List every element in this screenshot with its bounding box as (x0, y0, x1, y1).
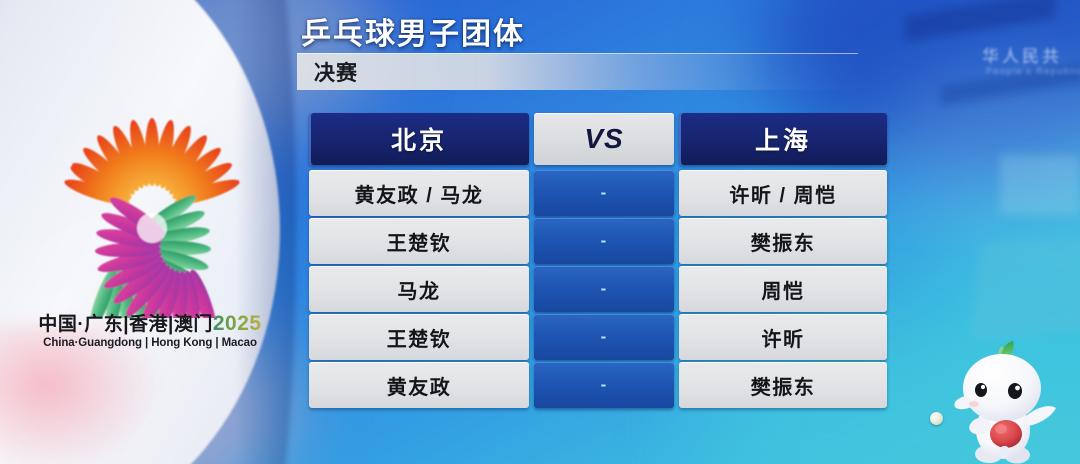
away-player: 许昕 (679, 314, 887, 360)
background-signage-subtext: People's Republic of C (986, 66, 1080, 76)
team-header-row: 北京 VS 上海 (309, 113, 887, 165)
vs-label: VS (534, 113, 674, 165)
event-title: 乒乓球男子团体 (301, 9, 525, 53)
background-signage-slab (905, 0, 1055, 42)
table-row: 黄友政 - 樊振东 (309, 362, 887, 408)
emblem-caption-cn: 中国·广东|香港|澳门2025 (34, 313, 266, 335)
match-score: - (534, 218, 674, 264)
match-grid: 北京 VS 上海 黄友政 / 马龙 - 许昕 / 周恺 王楚钦 - 樊振东 马龙… (309, 113, 887, 410)
home-player: 马龙 (309, 266, 529, 312)
away-team-name: 上海 (679, 113, 887, 165)
home-player: 黄友政 (309, 362, 529, 408)
away-player: 周恺 (679, 266, 887, 312)
away-player: 樊振东 (679, 218, 887, 264)
match-score: - (534, 266, 674, 312)
mascot-eye (1008, 383, 1022, 399)
round-label: 决赛 (314, 57, 358, 87)
emblem-caption: 中国·广东|香港|澳门2025 China·Guangdong | Hong K… (34, 313, 266, 349)
round-bar: 决赛 (297, 53, 858, 90)
background-blur-blob (880, 60, 1080, 250)
emblem-caption-en: China·Guangdong | Hong Kong | Macao (34, 337, 266, 349)
home-player: 黄友政 / 马龙 (309, 170, 529, 216)
mascot-figure (944, 338, 1066, 464)
match-score: - (534, 170, 674, 216)
background-signage-text: 华人民共 (982, 42, 1062, 67)
background-signage-slab (969, 236, 1080, 339)
games-emblem: 中国·广东|香港|澳门2025 China·Guangdong | Hong K… (34, 106, 266, 364)
emblem-petals-icon (34, 106, 266, 318)
table-row: 黄友政 / 马龙 - 许昕 / 周恺 (309, 170, 887, 216)
table-row: 王楚钦 - 许昕 (309, 314, 887, 360)
match-score: - (534, 314, 674, 360)
home-player: 王楚钦 (309, 218, 529, 264)
broadcast-scoreboard-overlay: 华人民共 People's Republic of C (0, 0, 1080, 464)
background-signage-slab (940, 63, 1080, 106)
mascot-paddle-icon (990, 420, 1022, 448)
away-player: 樊振东 (679, 362, 887, 408)
match-score: - (534, 362, 674, 408)
table-row: 马龙 - 周恺 (309, 266, 887, 312)
home-player: 王楚钦 (309, 314, 529, 360)
home-team-name: 北京 (309, 113, 529, 165)
ping-pong-ball-icon (930, 412, 943, 425)
mascot-eye (975, 383, 987, 397)
scoreboard: 乒乓球男子团体 决赛 北京 VS 上海 黄友政 / 马龙 - 许昕 / 周恺 王… (295, 0, 895, 420)
background-signage-slab (1000, 155, 1080, 215)
table-row: 王楚钦 - 樊振东 (309, 218, 887, 264)
away-player: 许昕 / 周恺 (679, 170, 887, 216)
